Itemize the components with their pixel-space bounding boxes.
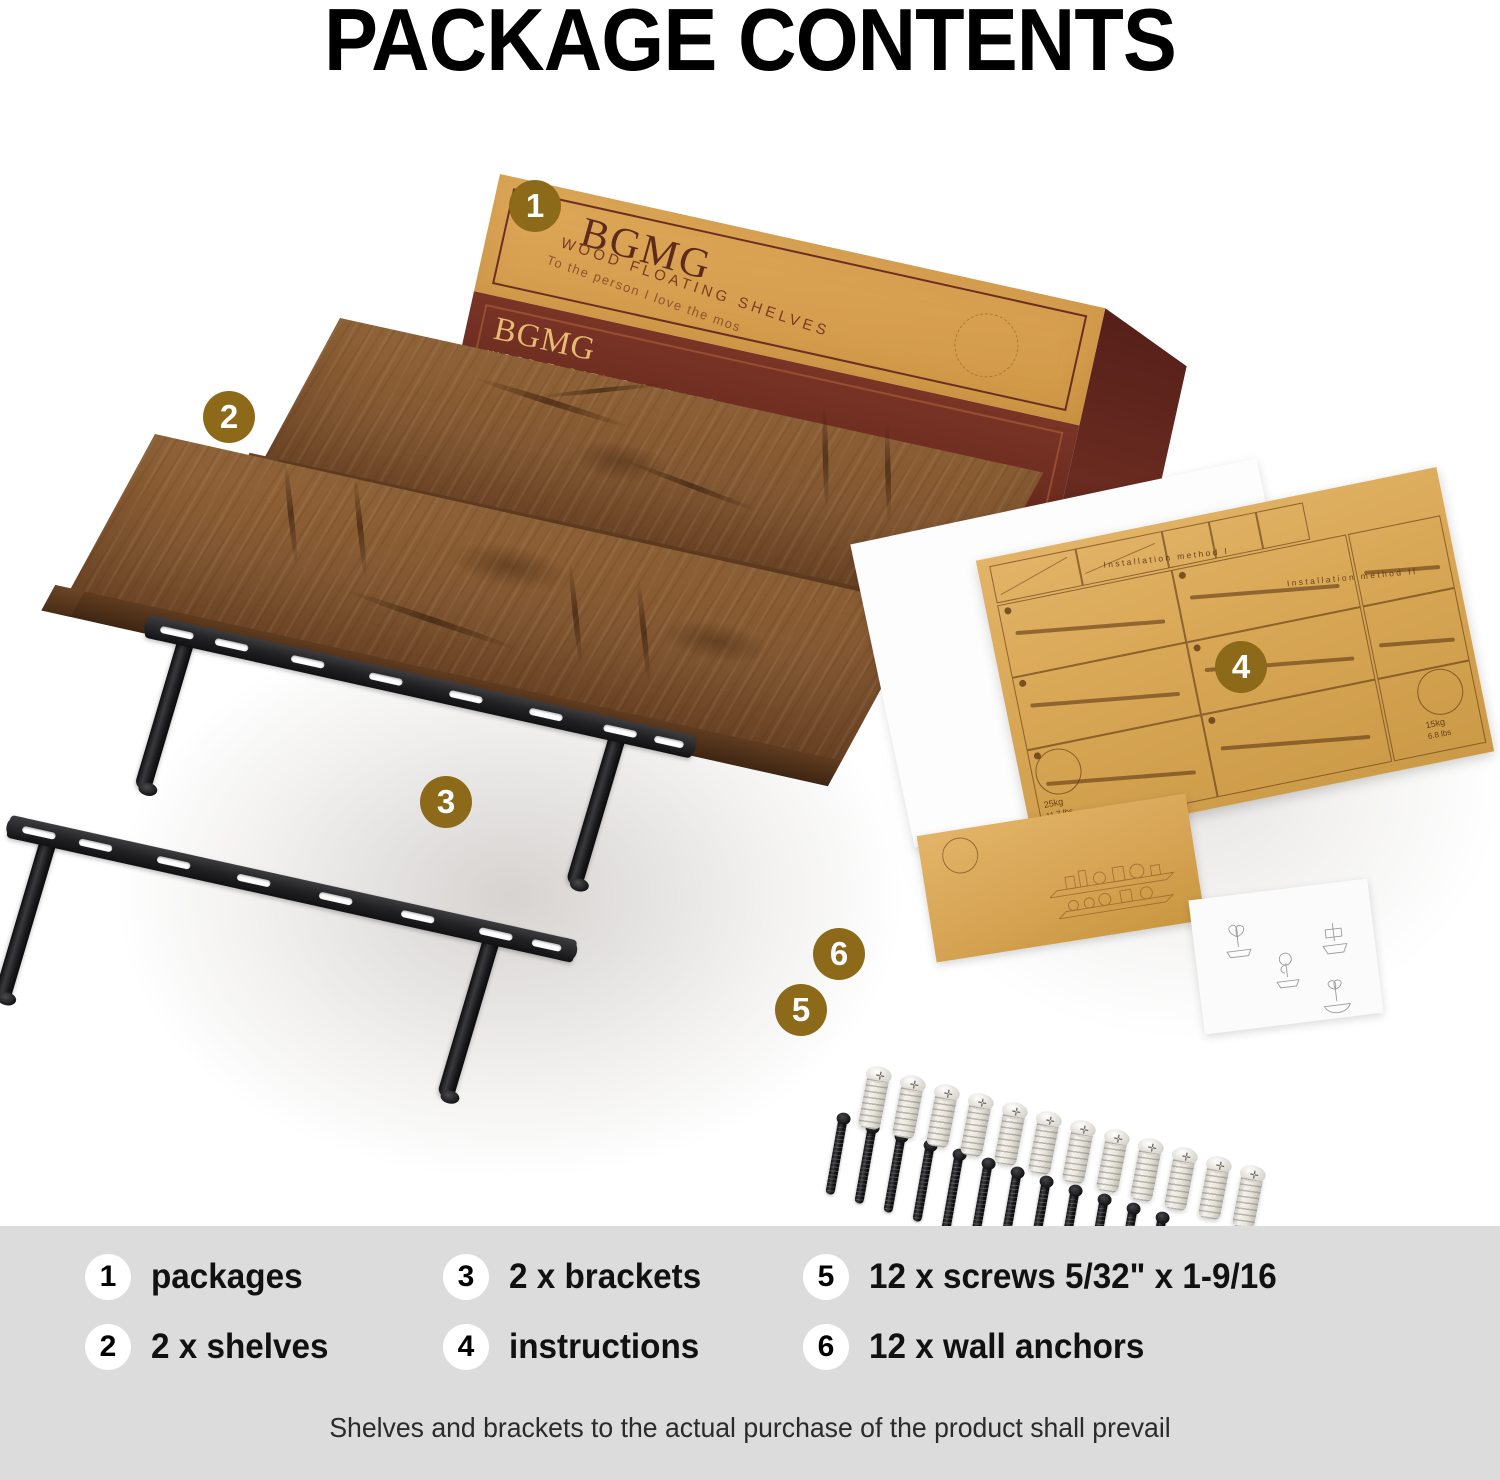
legend-panel: 1 packages 2 2 x shelves 3 2 x brackets … <box>0 1226 1500 1480</box>
callout-badge-2-number: 2 <box>220 398 238 436</box>
legend-label-4: instructions <box>509 1327 699 1367</box>
callout-badge-5-number: 5 <box>792 991 810 1029</box>
legend-label-5: 12 x screws 5/32" x 1-9/16 <box>869 1257 1277 1297</box>
bracket-rod-cap <box>137 781 158 798</box>
envelope-seal-icon <box>940 835 981 876</box>
callout-badge-4-number: 4 <box>1232 648 1250 686</box>
wall-anchor: ✛ <box>1096 1132 1129 1193</box>
screw <box>941 1153 963 1226</box>
screw <box>1086 1198 1108 1226</box>
wall-anchor: ✛ <box>1232 1168 1265 1226</box>
legend-label-3: 2 x brackets <box>509 1257 701 1297</box>
thank-you-card <box>1188 879 1383 1035</box>
callout-badge-3-number: 3 <box>437 783 455 821</box>
legend-item-3: 3 2 x brackets <box>443 1254 711 1300</box>
callout-badge-2: 2 <box>203 391 255 443</box>
envelope-shelf-illustration <box>1041 848 1184 930</box>
screw <box>1028 1180 1050 1226</box>
screw <box>1115 1207 1137 1226</box>
wall-anchor: ✛ <box>960 1096 993 1157</box>
page-title: PACKAGE CONTENTS <box>60 0 1440 86</box>
legend-item-6: 6 12 x wall anchors <box>803 1324 1159 1370</box>
wall-anchor: ✛ <box>892 1078 925 1139</box>
legend-item-5: 5 12 x screws 5/32" x 1-9/16 <box>803 1254 1298 1300</box>
legend-label-2: 2 x shelves <box>151 1327 328 1367</box>
bracket-slot <box>290 655 325 669</box>
wall-anchor: ✛ <box>994 1105 1027 1166</box>
bracket-slot <box>78 838 113 852</box>
shelf-knot <box>564 433 677 490</box>
bracket-slot <box>214 638 249 652</box>
callout-badge-1-number: 1 <box>526 187 544 225</box>
screw <box>883 1135 905 1213</box>
plant-illustration <box>1261 944 1312 991</box>
screw <box>1144 1216 1166 1226</box>
bracket-rod <box>134 634 196 792</box>
callout-badge-5: 5 <box>775 984 827 1036</box>
bracket-slot <box>529 708 564 722</box>
bracket-slot <box>400 910 435 924</box>
legend-badge-3: 3 <box>443 1254 489 1300</box>
shelf-gouge <box>283 461 300 568</box>
plant-illustration <box>1311 973 1362 1020</box>
bracket-mounting-bar <box>144 615 696 759</box>
screw <box>912 1144 934 1222</box>
bracket-rod <box>0 834 58 1002</box>
shelf-gouge <box>470 375 632 430</box>
legend-badge-1: 1 <box>85 1254 131 1300</box>
screw <box>1057 1189 1079 1226</box>
bracket-slot <box>449 690 484 704</box>
plant-illustration <box>1213 914 1264 961</box>
legend-label-1: packages <box>151 1257 303 1297</box>
callout-badge-3: 3 <box>420 776 472 828</box>
plant-illustration <box>1309 910 1360 957</box>
legend-item-2: 2 2 x shelves <box>85 1324 338 1370</box>
legend-badge-5: 5 <box>803 1254 849 1300</box>
legend-item-4: 4 instructions <box>443 1324 709 1370</box>
callout-badge-4: 4 <box>1215 641 1267 693</box>
bracket-slot <box>236 873 271 887</box>
legend-item-1: 1 packages <box>85 1254 311 1300</box>
bracket-slot <box>318 892 353 906</box>
bracket-rod-cap <box>439 1089 460 1106</box>
wall-anchor: ✛ <box>1062 1123 1095 1184</box>
legend-label-6: 12 x wall anchors <box>869 1327 1144 1367</box>
bracket-rod <box>566 729 628 887</box>
bracket-slot <box>368 672 403 686</box>
wall-anchor: ✛ <box>926 1087 959 1148</box>
legend-disclaimer: Shelves and brackets to the actual purch… <box>38 1412 1463 1444</box>
bracket-rod-cap <box>0 990 17 1007</box>
wall-anchor: ✛ <box>1028 1114 1061 1175</box>
callout-badge-1: 1 <box>509 180 561 232</box>
screw <box>999 1171 1021 1226</box>
screw <box>970 1162 992 1226</box>
wall-anchor: ✛ <box>1130 1141 1163 1202</box>
wall-anchor: ✛ <box>1198 1159 1231 1220</box>
bracket-slot <box>478 927 513 941</box>
bracket-slot <box>603 724 638 738</box>
shelf-gouge <box>536 381 667 399</box>
callout-badge-6: 6 <box>813 928 865 980</box>
wall-anchor: ✛ <box>1164 1150 1197 1211</box>
legend-badge-2: 2 <box>85 1324 131 1370</box>
legend-badge-4: 4 <box>443 1324 489 1370</box>
shelf-gouge <box>352 474 369 581</box>
bracket-slot <box>156 856 191 870</box>
wall-brackets <box>0 601 880 1181</box>
callout-badge-6-number: 6 <box>830 935 848 973</box>
bracket-rod-cap <box>569 877 590 894</box>
bracket-rod <box>437 932 502 1100</box>
shelf-knot <box>440 533 579 599</box>
product-photo: BGMG WOOD FLOATING SHELVES To the person… <box>0 96 1500 1226</box>
legend-badge-6: 6 <box>803 1324 849 1370</box>
